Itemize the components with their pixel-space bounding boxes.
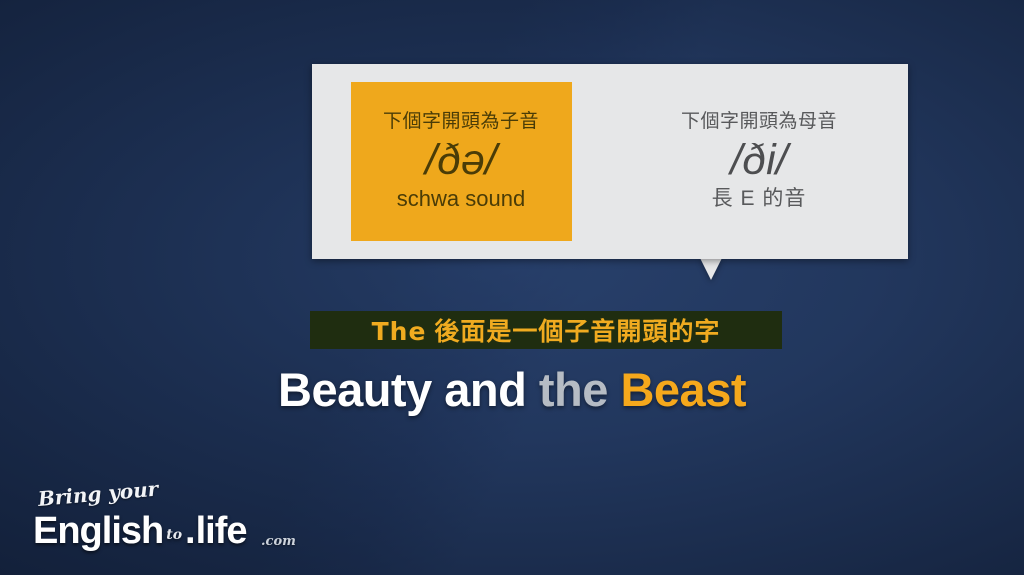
speech-bubble: 下個字開頭為子音 /ðə/ schwa sound 下個字開頭為母音 /ði/ … (312, 64, 908, 259)
slide-canvas: 下個字開頭為子音 /ðə/ schwa sound 下個字開頭為母音 /ði/ … (0, 0, 1024, 575)
consonant-heading: 下個字開頭為子音 (383, 112, 539, 133)
consonant-card: 下個字開頭為子音 /ðə/ schwa sound (351, 82, 572, 241)
logo-word-english: English (33, 510, 163, 552)
title-space-2 (608, 363, 621, 416)
caption-english-word: The (372, 317, 427, 346)
title-space-1 (526, 363, 539, 416)
speech-bubble-tail (700, 258, 722, 280)
vowel-ipa: /ði/ (730, 138, 787, 183)
logo-tld: .com (261, 534, 296, 549)
consonant-description: schwa sound (397, 187, 525, 211)
title-part-white: Beauty and (278, 363, 526, 416)
movie-title: Beauty and the Beast (0, 362, 1024, 417)
vowel-heading: 下個字開頭為母音 (681, 112, 837, 133)
vowel-description: 長 E 的音 (712, 187, 807, 210)
consonant-ipa: /ðə/ (425, 138, 497, 183)
caption-chinese-text: 後面是一個子音開頭的字 (426, 318, 720, 346)
brand-logo[interactable]: Bring your Englishto.life .com (33, 487, 303, 557)
logo-main-line: Englishto.life (33, 510, 247, 553)
panel-vowel: 下個字開頭為母音 /ði/ 長 E 的音 (610, 64, 908, 259)
pronunciation-panels: 下個字開頭為子音 /ðə/ schwa sound 下個字開頭為母音 /ði/ … (312, 64, 908, 259)
logo-word-life: life (196, 510, 247, 552)
caption-text: The 後面是一個子音開頭的字 (372, 312, 721, 348)
panel-consonant: 下個字開頭為子音 /ðə/ schwa sound (312, 64, 610, 259)
title-part-grey: the (539, 363, 608, 416)
caption-highlight: The 後面是一個子音開頭的字 (310, 311, 782, 349)
title-part-gold: Beast (620, 363, 746, 416)
logo-separator-dot: . (185, 510, 196, 552)
logo-connector-to: to (163, 527, 185, 543)
